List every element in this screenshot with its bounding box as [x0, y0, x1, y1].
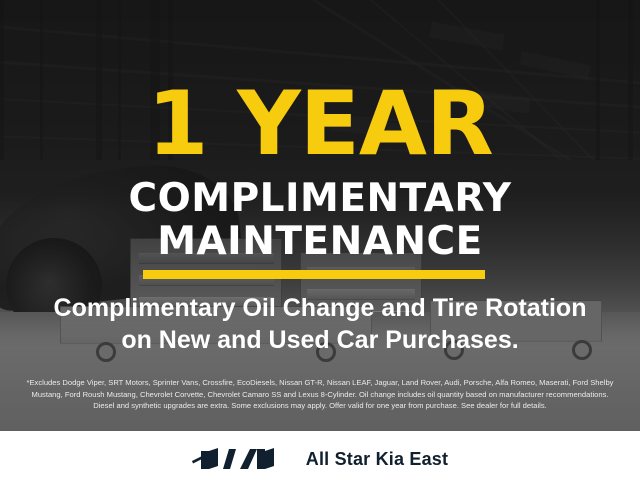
disclaimer-text: *Excludes Dodge Viper, SRT Motors, Sprin… [14, 377, 626, 412]
brand-row: All Star Kia East [192, 447, 448, 473]
dealer-name: All Star Kia East [306, 449, 448, 470]
subheading: Complimentary Oil Change and Tire Rotati… [0, 292, 640, 356]
disclaimer-line-1: *Excludes Dodge Viper, SRT Motors, Sprin… [14, 377, 626, 389]
kia-logo-icon [192, 447, 284, 473]
subheading-line-1: Complimentary Oil Change and Tire Rotati… [0, 292, 640, 324]
service-promo-banner: 1 YEAR COMPLIMENTARY MAINTENANCE Complim… [0, 0, 640, 488]
headline-year: 1 YEAR [0, 80, 640, 168]
subheading-line-2: on New and Used Car Purchases. [0, 324, 640, 356]
headline-maintenance: MAINTENANCE [0, 222, 640, 261]
headline-complimentary: COMPLIMENTARY [0, 179, 640, 218]
yellow-divider-bar [143, 270, 485, 279]
disclaimer-line-2: Mustang, Ford Roush Mustang, Chevrolet C… [14, 389, 626, 401]
disclaimer-line-3: Diesel and synthetic upgrades are extra.… [14, 400, 626, 412]
brand-footer: All Star Kia East [0, 431, 640, 488]
banner-content: 1 YEAR COMPLIMENTARY MAINTENANCE Complim… [0, 0, 640, 431]
